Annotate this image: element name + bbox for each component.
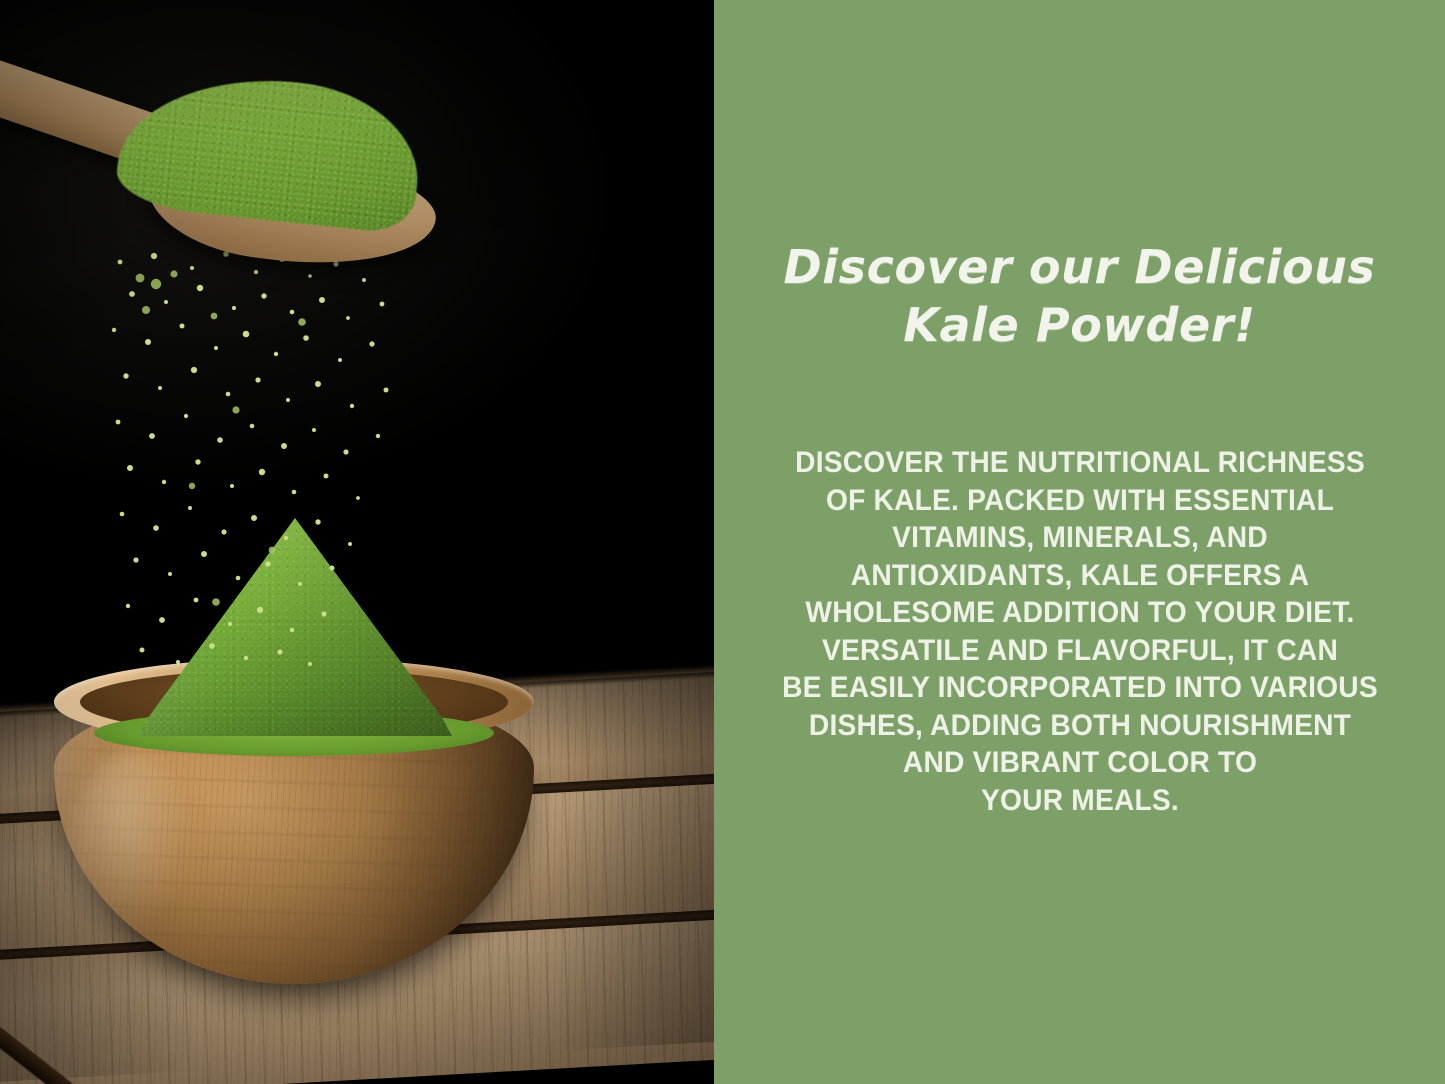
body-line-10: YOUR MEALS. <box>755 782 1404 820</box>
body-line-6: VERSATILE AND FLAVORFUL, IT CAN <box>755 632 1404 670</box>
body-line-3: VITAMINS, MINERALS, AND <box>755 519 1404 557</box>
wooden-spoon <box>0 40 400 330</box>
body-line-2: OF KALE. PACKED WITH ESSENTIAL <box>755 482 1404 520</box>
info-panel: Discover our Delicious Kale Powder! DISC… <box>714 0 1445 1084</box>
body-line-5: WHOLESOME ADDITION TO YOUR DIET. <box>755 594 1404 632</box>
kale-powder-photo <box>0 0 714 1084</box>
headline-line-1: Discover our Delicious <box>760 238 1400 296</box>
body-line-1: DISCOVER THE NUTRITIONAL RICHNESS <box>755 444 1404 482</box>
product-banner: Discover our Delicious Kale Powder! DISC… <box>0 0 1445 1084</box>
body-line-9: AND VIBRANT COLOR TO <box>755 744 1404 782</box>
wooden-bowl <box>54 658 534 988</box>
headline-line-2: Kale Powder! <box>760 296 1400 354</box>
bowl-highlight <box>72 752 192 942</box>
body-line-4: ANTIOXIDANTS, KALE OFFERS A <box>755 557 1404 595</box>
body-line-8: DISHES, ADDING BOTH NOURISHMENT <box>755 707 1404 745</box>
body-copy: DISCOVER THE NUTRITIONAL RICHNESS OF KAL… <box>755 444 1404 819</box>
body-line-7: BE EASILY INCORPORATED INTO VARIOUS <box>755 669 1404 707</box>
headline: Discover our Delicious Kale Powder! <box>760 238 1400 354</box>
